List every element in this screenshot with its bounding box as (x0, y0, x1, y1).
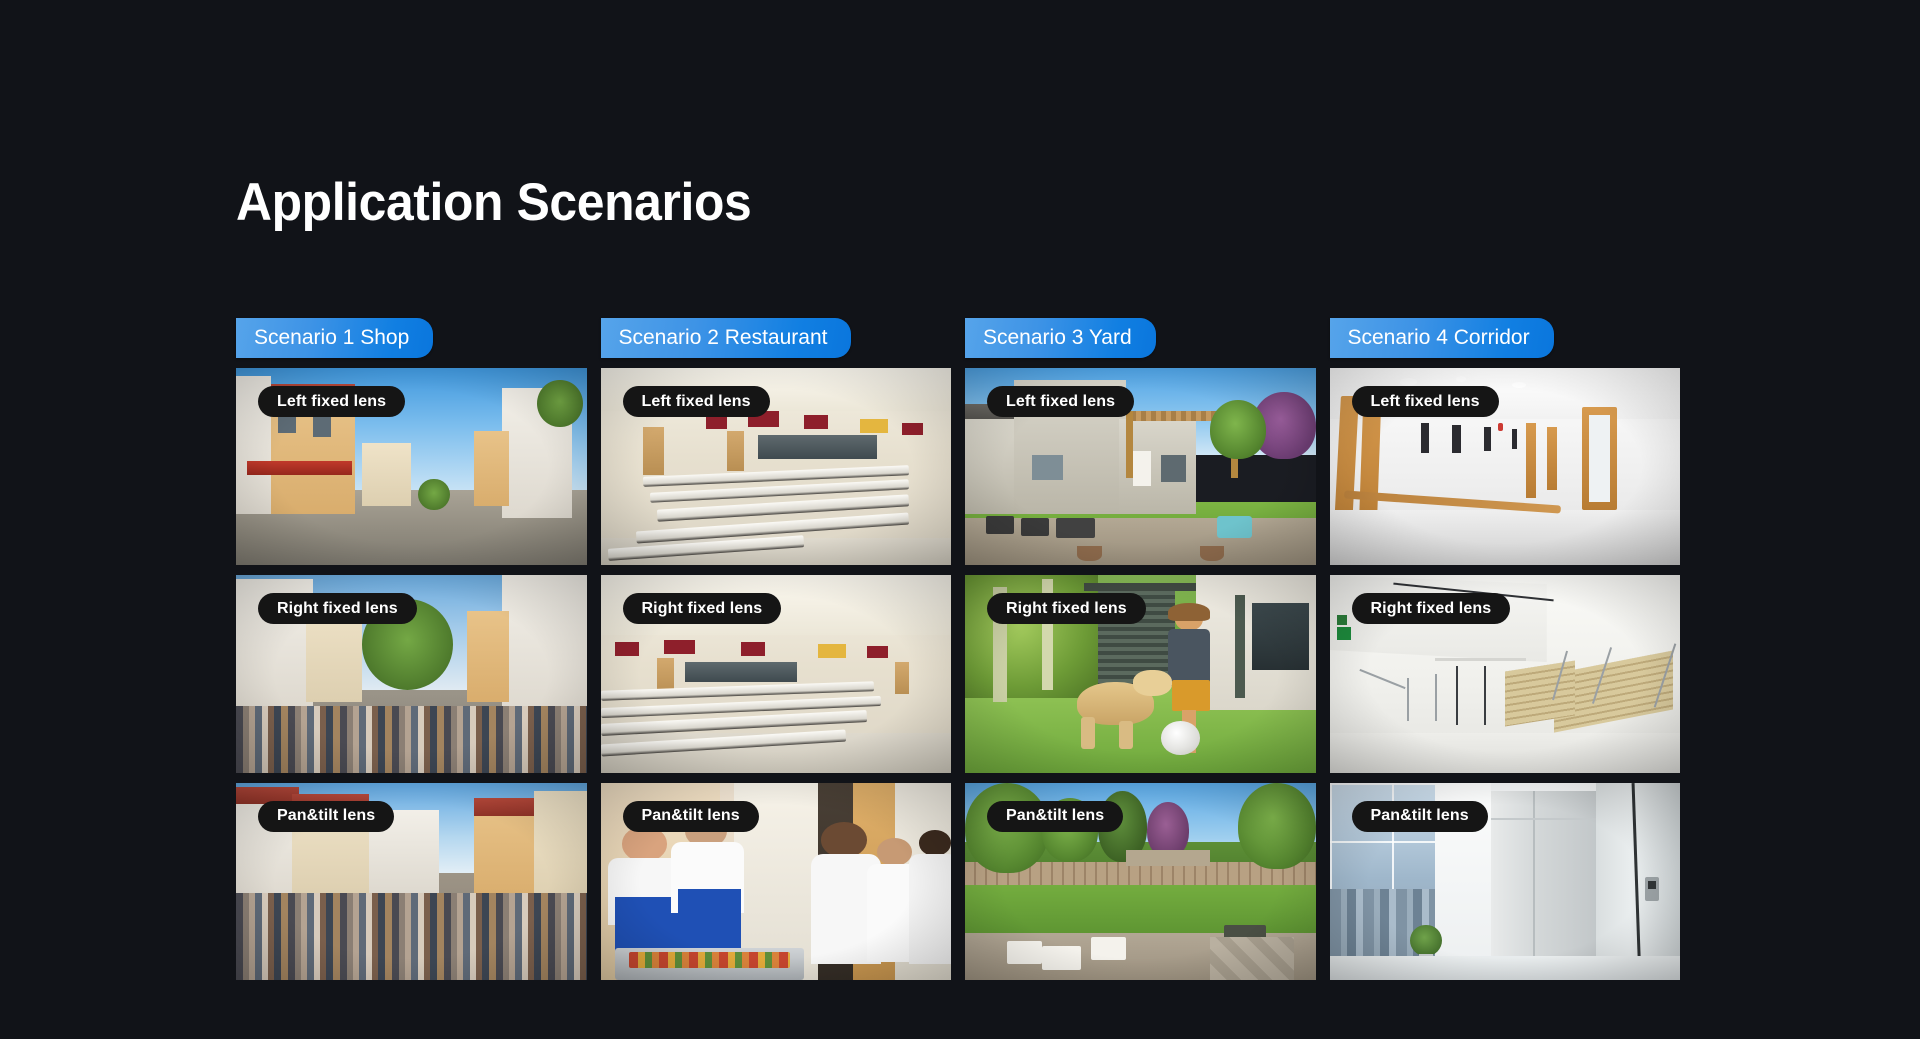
scenario-tab-2[interactable]: Scenario 2 Restaurant (601, 318, 852, 358)
scenario-2-panel-left[interactable]: Left fixed lens (601, 368, 952, 565)
lens-badge-right-4: Right fixed lens (1352, 593, 1511, 624)
scenario-4-panel-left[interactable]: Left fixed lens (1330, 368, 1681, 565)
lens-badge-right-2: Right fixed lens (623, 593, 782, 624)
scenario-tab-3[interactable]: Scenario 3 Yard (965, 318, 1156, 358)
application-scenarios-page: Application Scenarios Scenario 1 Shop (0, 0, 1920, 1039)
lens-badge-pantilt-1: Pan&tilt lens (258, 801, 394, 832)
scenario-grid: Scenario 1 Shop (236, 318, 1680, 980)
lens-badge-left-4: Left fixed lens (1352, 386, 1499, 417)
scenario-1-panel-left[interactable]: Left fixed lens (236, 368, 587, 565)
scenario-tab-1[interactable]: Scenario 1 Shop (236, 318, 433, 358)
lens-badge-left-2: Left fixed lens (623, 386, 770, 417)
lens-badge-left-3: Left fixed lens (987, 386, 1134, 417)
scenario-column-1: Scenario 1 Shop (236, 318, 587, 980)
scenario-tab-4[interactable]: Scenario 4 Corridor (1330, 318, 1554, 358)
lens-badge-pantilt-4: Pan&tilt lens (1352, 801, 1488, 832)
scenario-4-panel-pantilt[interactable]: Pan&tilt lens (1330, 783, 1681, 980)
scenario-3-panel-pantilt[interactable]: Pan&tilt lens (965, 783, 1316, 980)
lens-badge-pantilt-3: Pan&tilt lens (987, 801, 1123, 832)
scenario-column-4: Scenario 4 Corridor (1330, 318, 1681, 980)
scenario-1-panel-pantilt[interactable]: Pan&tilt lens (236, 783, 587, 980)
scenario-column-2: Scenario 2 Restaurant (601, 318, 952, 980)
scenario-3-panel-right[interactable]: Right fixed lens (965, 575, 1316, 772)
scenario-1-panel-right[interactable]: Right fixed lens (236, 575, 587, 772)
scenario-column-3: Scenario 3 Yard (965, 318, 1316, 980)
lens-badge-right-3: Right fixed lens (987, 593, 1146, 624)
scenario-2-panel-pantilt[interactable]: Pan&tilt lens (601, 783, 952, 980)
scenario-2-panel-right[interactable]: Right fixed lens (601, 575, 952, 772)
page-title: Application Scenarios (236, 172, 751, 233)
lens-badge-right-1: Right fixed lens (258, 593, 417, 624)
lens-badge-left-1: Left fixed lens (258, 386, 405, 417)
scenario-3-panel-left[interactable]: Left fixed lens (965, 368, 1316, 565)
scenario-4-panel-right[interactable]: Right fixed lens (1330, 575, 1681, 772)
lens-badge-pantilt-2: Pan&tilt lens (623, 801, 759, 832)
